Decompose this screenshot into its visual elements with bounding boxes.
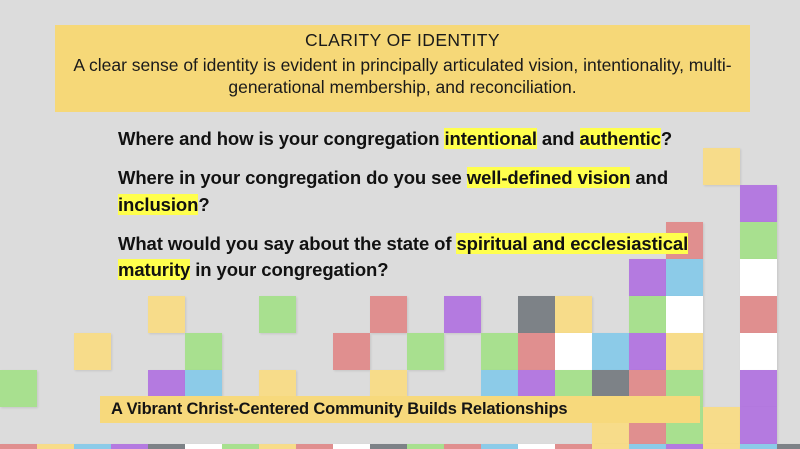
mosaic-tile: [555, 296, 592, 333]
mosaic-tile: [629, 333, 666, 370]
mosaic-tile: [740, 370, 777, 407]
mosaic-tile: [185, 333, 222, 370]
mosaic-tile: [444, 296, 481, 333]
question-text: What would you say about the state of: [118, 233, 456, 254]
question-text: Where and how is your congregation: [118, 128, 444, 149]
mosaic-tile: [666, 333, 703, 370]
mosaic-tile: [592, 444, 629, 449]
question-text: Where in your congregation do you see: [118, 167, 467, 188]
mosaic-tile: [37, 444, 74, 449]
highlighted-phrase: authentic: [580, 128, 661, 149]
mosaic-tile: [555, 444, 592, 449]
mosaic-tile: [407, 333, 444, 370]
mosaic-tile: [148, 444, 185, 449]
mosaic-tile: [740, 444, 777, 449]
mosaic-tile: [370, 296, 407, 333]
mosaic-tile: [185, 444, 222, 449]
mosaic-tile: [703, 407, 740, 444]
mosaic-tile: [740, 259, 777, 296]
mosaic-tile: [0, 444, 37, 449]
mosaic-tile: [148, 296, 185, 333]
mosaic-tile: [777, 444, 800, 449]
title-banner: CLARITY OF IDENTITY A clear sense of ide…: [55, 25, 750, 112]
bottom-banner-text: A Vibrant Christ-Centered Community Buil…: [111, 400, 567, 419]
mosaic-tile: [481, 333, 518, 370]
question-text: and: [630, 167, 668, 188]
mosaic-tile: [333, 444, 370, 449]
title-subtitle: A clear sense of identity is evident in …: [55, 54, 750, 100]
mosaic-tile: [481, 444, 518, 449]
mosaic-tile: [0, 370, 37, 407]
mosaic-tile: [666, 444, 703, 449]
mosaic-tile: [666, 296, 703, 333]
mosaic-tile: [740, 222, 777, 259]
mosaic-tile: [370, 444, 407, 449]
mosaic-tile: [629, 296, 666, 333]
mosaic-tile: [259, 296, 296, 333]
highlighted-phrase: inclusion: [118, 194, 198, 215]
question-item: What would you say about the state of sp…: [118, 231, 718, 284]
highlighted-phrase: intentional: [444, 128, 536, 149]
question-text: ?: [661, 128, 672, 149]
question-text: and: [537, 128, 580, 149]
mosaic-tile: [333, 333, 370, 370]
highlighted-phrase: well-defined vision: [467, 167, 631, 188]
question-list: Where and how is your congregation inten…: [118, 126, 718, 296]
mosaic-tile: [518, 296, 555, 333]
mosaic-tile: [703, 444, 740, 449]
page-title: CLARITY OF IDENTITY: [305, 29, 500, 53]
mosaic-tile: [74, 444, 111, 449]
mosaic-tile: [555, 333, 592, 370]
mosaic-tile: [629, 444, 666, 449]
mosaic-tile: [740, 296, 777, 333]
mosaic-tile: [407, 444, 444, 449]
mosaic-tile: [740, 185, 777, 222]
mosaic-tile: [222, 444, 259, 449]
mosaic-tile: [592, 333, 629, 370]
mosaic-tile: [518, 333, 555, 370]
question-item: Where in your congregation do you see we…: [118, 165, 718, 218]
slide-canvas: CLARITY OF IDENTITY A clear sense of ide…: [0, 0, 800, 449]
question-text: in your congregation?: [190, 259, 388, 280]
mosaic-tile: [740, 407, 777, 444]
question-text: ?: [198, 194, 209, 215]
mosaic-tile: [444, 444, 481, 449]
mosaic-tile: [74, 333, 111, 370]
bottom-banner: A Vibrant Christ-Centered Community Buil…: [100, 396, 700, 423]
mosaic-tile: [259, 444, 296, 449]
question-item: Where and how is your congregation inten…: [118, 126, 718, 152]
mosaic-tile: [740, 333, 777, 370]
mosaic-tile: [518, 444, 555, 449]
mosaic-tile: [296, 444, 333, 449]
mosaic-tile: [111, 444, 148, 449]
